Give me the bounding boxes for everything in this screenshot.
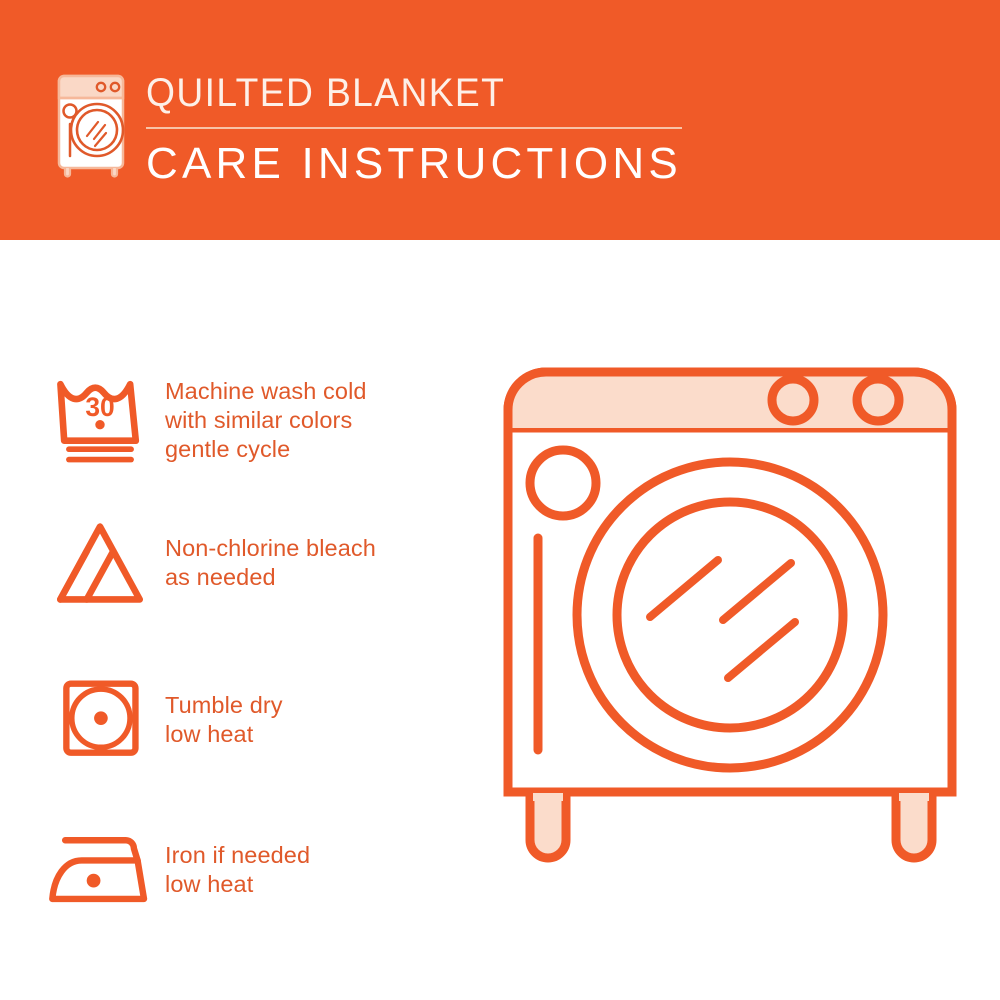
care-label-bleach: Non-chlorine bleach as needed [165,534,376,592]
care-label-machine-wash: Machine wash cold with similar colors ge… [165,377,367,464]
washing-machine-icon [45,68,137,180]
leg-right [896,792,932,858]
wash-temperature-label: 30 [85,392,114,422]
care-instruction-list: 30 Machine wash cold with similar colors… [0,240,500,1000]
leg-left [530,792,566,858]
header-banner: QUILTED BLANKET CARE INSTRUCTIONS [0,0,1000,240]
page-title-secondary: CARE INSTRUCTIONS [146,139,706,189]
care-label-tumble-dry: Tumble dry low heat [165,691,283,749]
care-row-tumble-dry: Tumble dry low heat [0,665,500,775]
care-row-machine-wash: 30 Machine wash cold with similar colors… [0,360,500,480]
title-divider [146,127,682,129]
care-label-iron: Iron if needed low heat [165,841,310,899]
non-chlorine-bleach-triangle-icon [45,518,155,609]
header-title-group: QUILTED BLANKET CARE INSTRUCTIONS [146,70,706,189]
wash-tub-30-gentle-icon: 30 [45,371,155,469]
front-load-washing-machine-illustration [480,320,980,940]
tumble-dry-low-heat-icon [45,676,155,764]
iron-low-heat-icon [45,829,155,912]
care-row-iron: Iron if needed low heat [0,815,500,925]
care-instructions-page: QUILTED BLANKET CARE INSTRUCTIONS 30 [0,0,1000,1000]
page-title-primary: QUILTED BLANKET [146,70,667,116]
care-row-bleach: Non-chlorine bleach as needed [0,508,500,618]
